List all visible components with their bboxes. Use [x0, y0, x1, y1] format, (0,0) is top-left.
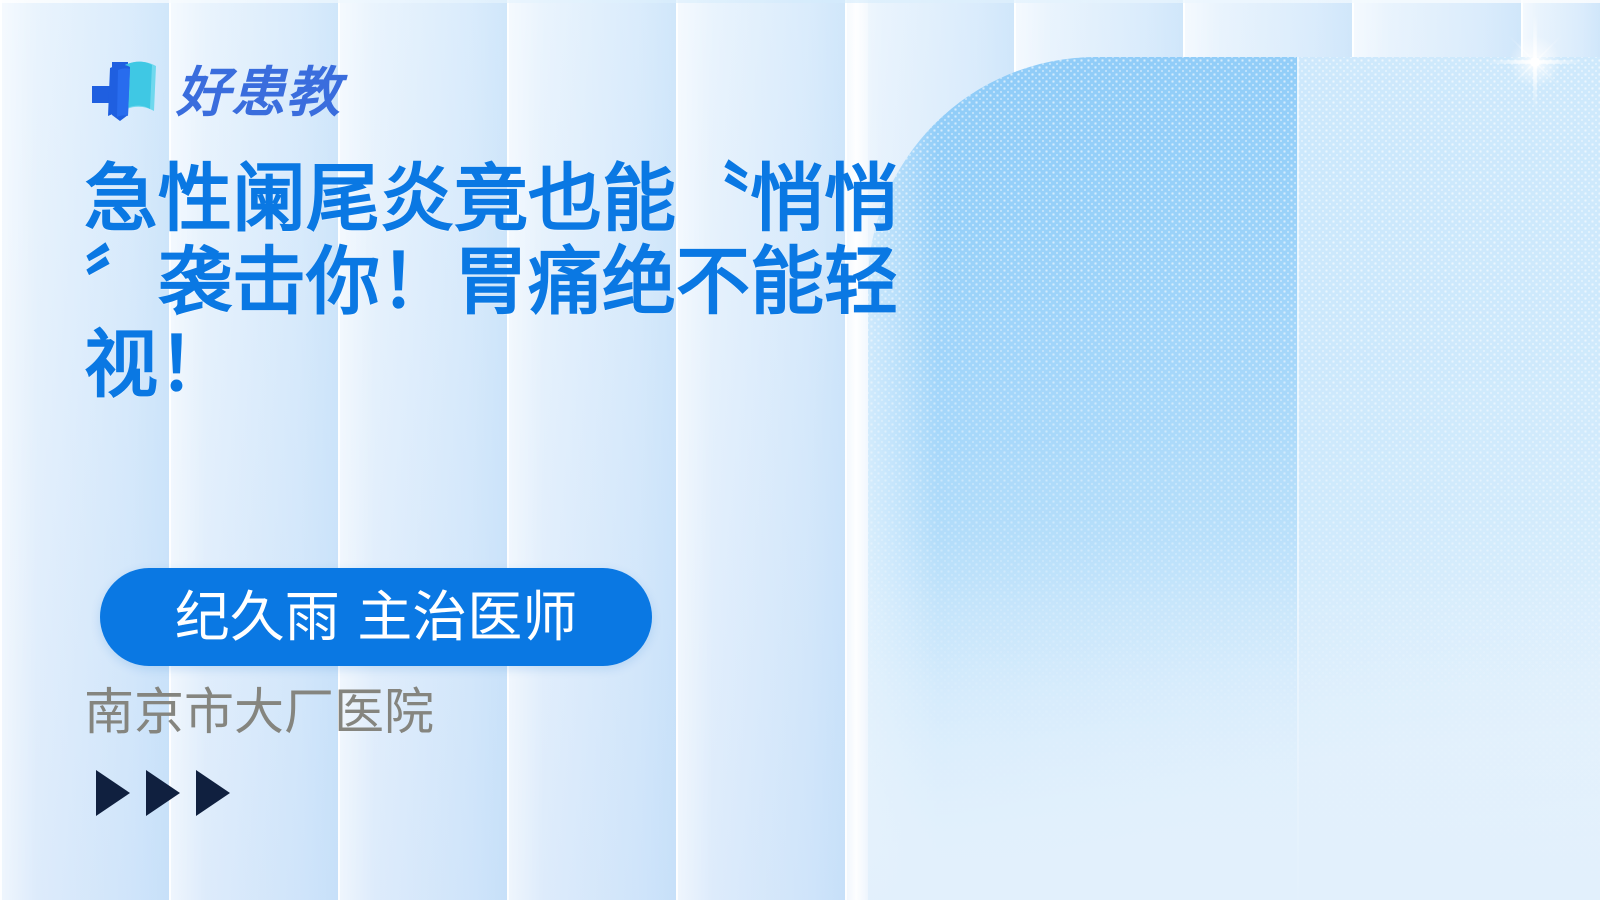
headline-line-1: 急性阑尾炎竟也能〝悄悄	[84, 158, 964, 241]
doctor-name-label: 纪久雨 主治医师	[175, 590, 577, 645]
brand-lockup: 好患教	[88, 56, 341, 130]
headline-line-3: 视！	[84, 324, 964, 407]
play-triangle-icon	[146, 770, 180, 816]
hospital-label: 南京市大厂医院	[84, 682, 434, 742]
doctor-name-badge: 纪久雨 主治医师	[100, 568, 652, 666]
arrow-indicator-group	[96, 770, 230, 816]
sparkle-star-icon	[1487, 14, 1583, 110]
headline-line-2: 〞袭击你！胃痛绝不能轻	[84, 241, 964, 324]
content-column: 好患教 急性阑尾炎竟也能〝悄悄 〞袭击你！胃痛绝不能轻 视！ 纪久雨 主治医师 …	[0, 0, 980, 900]
play-triangle-icon	[96, 770, 130, 816]
medical-cross-book-icon	[88, 56, 162, 130]
page-title: 急性阑尾炎竟也能〝悄悄 〞袭击你！胃痛绝不能轻 视！	[84, 158, 964, 407]
play-triangle-icon	[196, 770, 230, 816]
poster-canvas: 好患教 急性阑尾炎竟也能〝悄悄 〞袭击你！胃痛绝不能轻 视！ 纪久雨 主治医师 …	[0, 0, 1600, 900]
top-hairline	[0, 0, 1600, 3]
brand-name: 好患教	[176, 66, 341, 120]
